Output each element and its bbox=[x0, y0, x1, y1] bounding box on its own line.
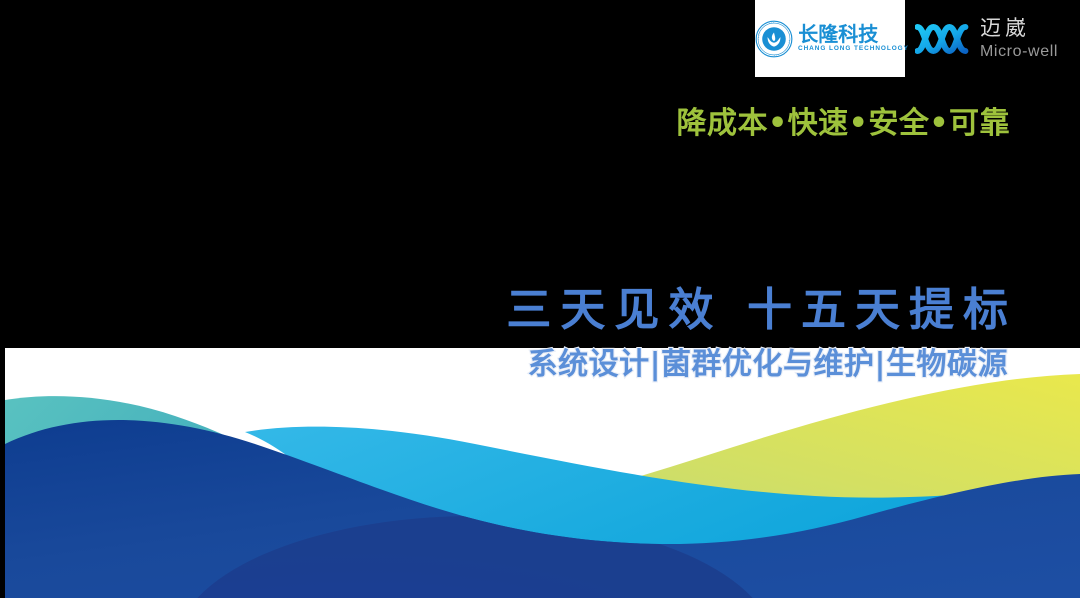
microwell-name-en: Micro-well bbox=[980, 44, 1058, 60]
microwell-name-cn: 迈崴 bbox=[980, 18, 1058, 39]
microwell-logo: 迈崴 Micro-well bbox=[915, 8, 1080, 70]
wave-artwork-panel bbox=[5, 348, 1080, 598]
changlong-name-cn: 长隆科技 bbox=[798, 24, 905, 44]
logo-bar: · 长隆科技 CHANG LONG TECHNOLOGY bbox=[755, 0, 1080, 78]
changlong-seal-icon: · bbox=[755, 20, 793, 58]
page-title: 三天见效 十五天提标 bbox=[0, 286, 1017, 333]
changlong-name-en: CHANG LONG TECHNOLOGY bbox=[798, 46, 909, 52]
changlong-logo: · 长隆科技 CHANG LONG TECHNOLOGY bbox=[755, 0, 905, 77]
slide-canvas: · 长隆科技 CHANG LONG TECHNOLOGY bbox=[0, 0, 1080, 598]
wave-artwork-svg bbox=[5, 348, 1080, 598]
svg-text:·: · bbox=[760, 33, 763, 35]
microwell-wave-x-icon bbox=[915, 19, 971, 59]
page-subtitle: 系统设计|菌群优化与维护|生物碳源 bbox=[0, 339, 1008, 383]
headline-block: 三天见效 十五天提标 系统设计|菌群优化与维护|生物碳源 bbox=[0, 286, 1008, 383]
tagline: 降成本•快速•安全•可靠 bbox=[0, 98, 1010, 142]
